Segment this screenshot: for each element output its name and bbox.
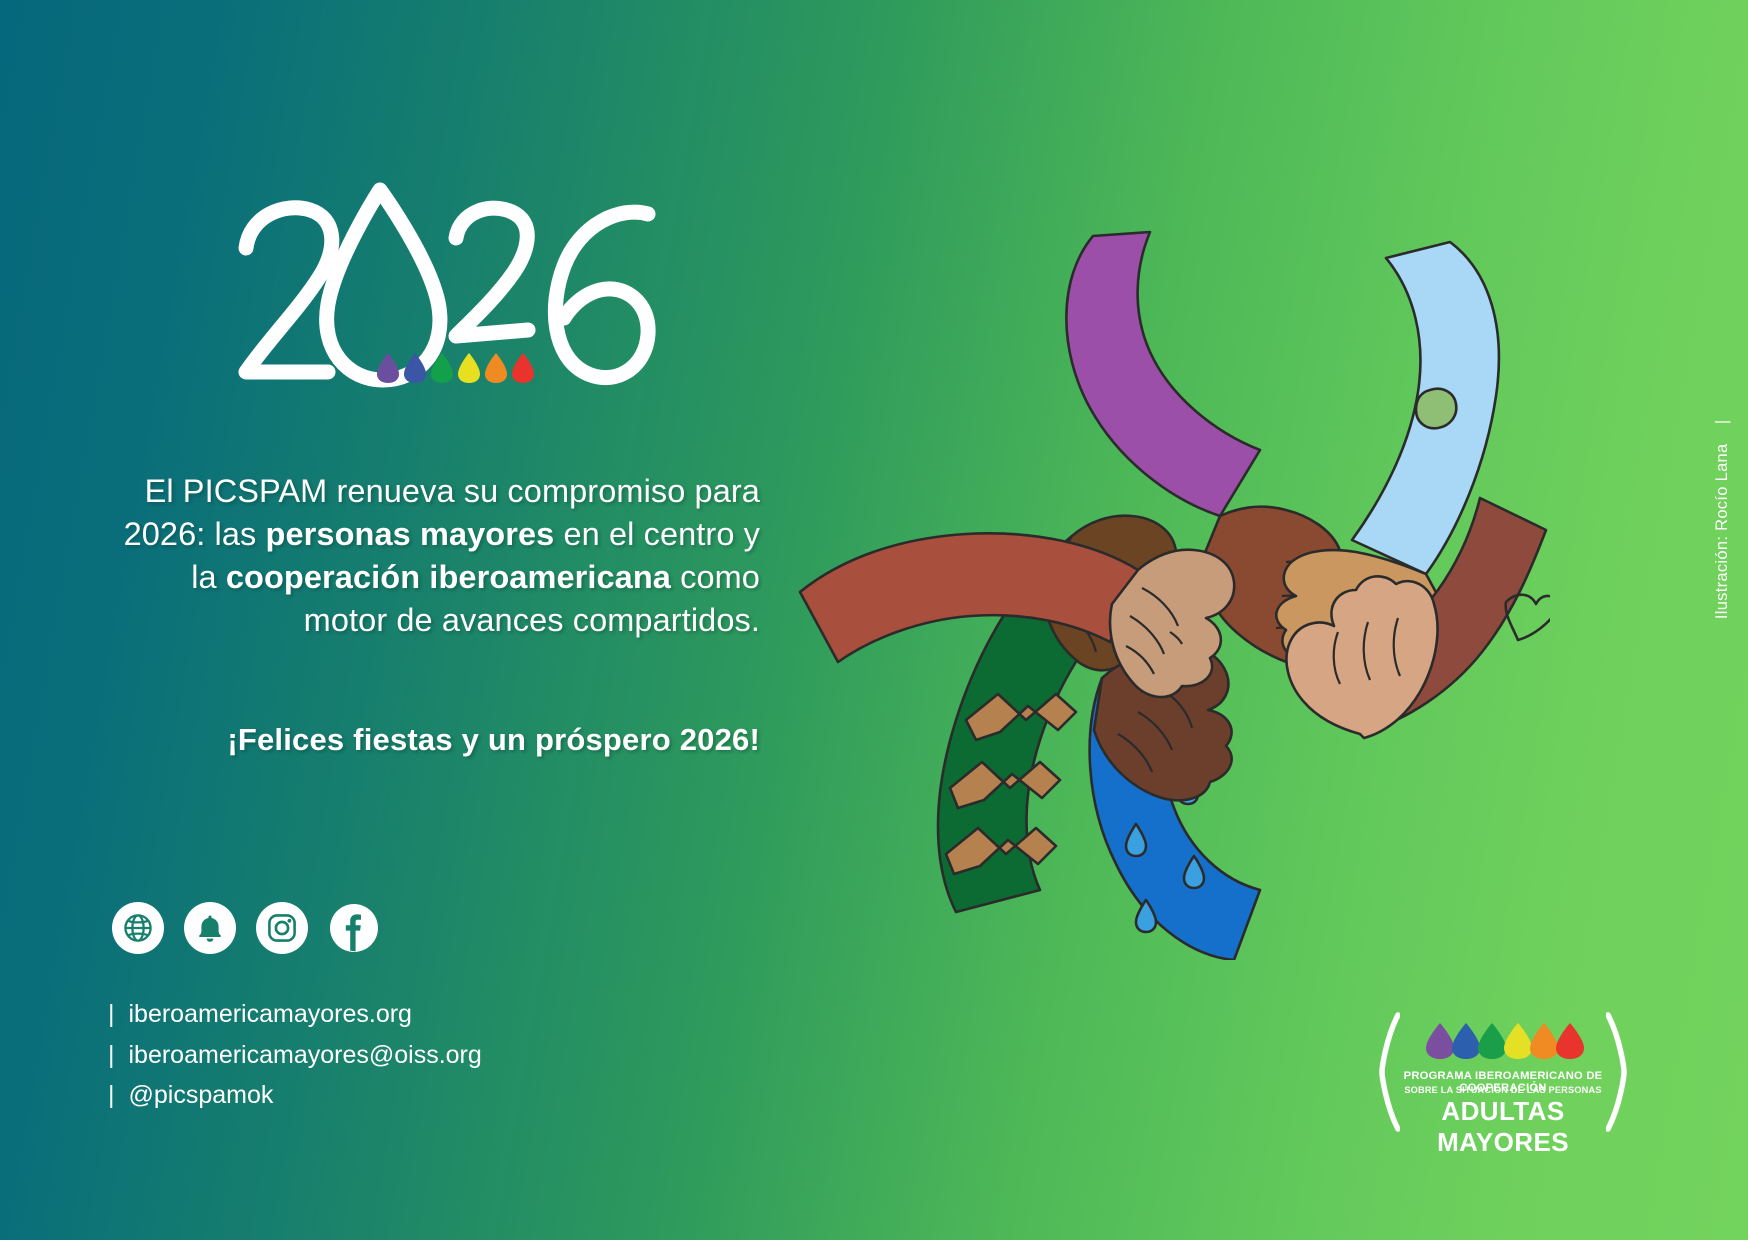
facebook-icon	[328, 902, 380, 954]
message-line-3-pre: la	[191, 559, 226, 595]
digit-six	[555, 212, 648, 377]
message-line-2-post: en el centro y	[554, 516, 760, 552]
drop-red	[510, 352, 536, 384]
bell-icon	[193, 911, 227, 945]
social-link-facebook[interactable]	[328, 902, 380, 954]
leaf-doodle	[1416, 389, 1456, 429]
message-bold-personas-mayores: personas mayores	[266, 516, 555, 552]
contact-email[interactable]: iberoamericamayores@oiss.org	[129, 1035, 482, 1076]
social-icon-row	[112, 902, 380, 954]
digit-two-second	[456, 208, 528, 336]
contact-list: | iberoamericamayores.org | iberoamerica…	[108, 994, 482, 1116]
social-link-newsletter[interactable]	[184, 902, 236, 954]
message-line-4: motor de avances compartidos.	[304, 602, 760, 638]
poster-canvas: El PICSPAM renueva su compromiso para 20…	[0, 0, 1748, 1240]
message-line-1: El PICSPAM renueva su compromiso para	[145, 473, 760, 509]
social-link-website[interactable]	[112, 902, 164, 954]
hands-circle-illustration	[790, 200, 1550, 960]
zigzag-pattern	[946, 694, 1076, 874]
digit-two-first	[246, 208, 332, 372]
drop-blue	[402, 352, 428, 384]
logo-line-2: SOBRE LA SITUACIÓN DE LAS PERSONAS	[1378, 1085, 1628, 1095]
instagram-icon	[266, 912, 298, 944]
greeting-text: ¡Felices fiestas y un próspero 2026!	[60, 722, 760, 758]
program-logo: PROGRAMA IBEROAMERICANO DE COOPERACIÓN S…	[1378, 1012, 1628, 1132]
message-bold-cooperacion: cooperación iberoamericana	[226, 559, 671, 595]
drop-yellow	[456, 352, 482, 384]
logo-drop-red	[1554, 1022, 1586, 1060]
contact-bar: |	[108, 1075, 115, 1116]
drop-purple	[375, 352, 401, 384]
message-line-2-pre: 2026: las	[124, 516, 266, 552]
drop-green	[429, 352, 455, 384]
globe-icon	[121, 911, 155, 945]
headline-drop-row	[375, 352, 536, 384]
illustration-credit: Ilustración: Rocío Lana |	[1713, 420, 1732, 619]
contact-row-website[interactable]: | iberoamericamayores.org	[108, 994, 482, 1035]
contact-bar: |	[108, 994, 115, 1035]
contact-bar: |	[108, 1035, 115, 1076]
logo-drop-row	[1424, 1022, 1586, 1060]
message-line-3-post: como	[671, 559, 760, 595]
social-link-instagram[interactable]	[256, 902, 308, 954]
credit-bar: |	[1713, 420, 1731, 425]
credit-text: Ilustración: Rocío Lana	[1713, 443, 1731, 619]
logo-line-3: ADULTAS MAYORES	[1378, 1096, 1628, 1158]
drop-orange	[483, 352, 509, 384]
contact-row-email[interactable]: | iberoamericamayores@oiss.org	[108, 1035, 482, 1076]
contact-row-handle[interactable]: | @picspamok	[108, 1075, 482, 1116]
contact-handle[interactable]: @picspamok	[129, 1075, 274, 1116]
message-paragraph: El PICSPAM renueva su compromiso para 20…	[60, 470, 760, 642]
contact-website[interactable]: iberoamericamayores.org	[129, 994, 412, 1035]
